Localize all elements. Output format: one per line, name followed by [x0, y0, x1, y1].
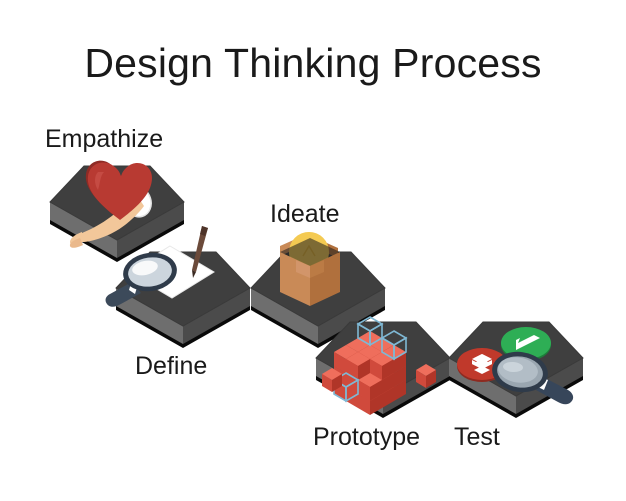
page-title: Design Thinking Process [0, 40, 626, 87]
hex-platform-define [110, 248, 256, 356]
hex-platform-prototype [310, 318, 456, 426]
step-label-test: Test [454, 423, 500, 452]
step-label-define: Define [135, 352, 207, 381]
step-label-ideate: Ideate [270, 200, 340, 229]
step-label-prototype: Prototype [313, 423, 420, 452]
design-thinking-process-infographic: Design Thinking Process Empathize [0, 0, 626, 501]
hex-platform-test [443, 318, 589, 426]
step-label-empathize: Empathize [45, 125, 163, 154]
